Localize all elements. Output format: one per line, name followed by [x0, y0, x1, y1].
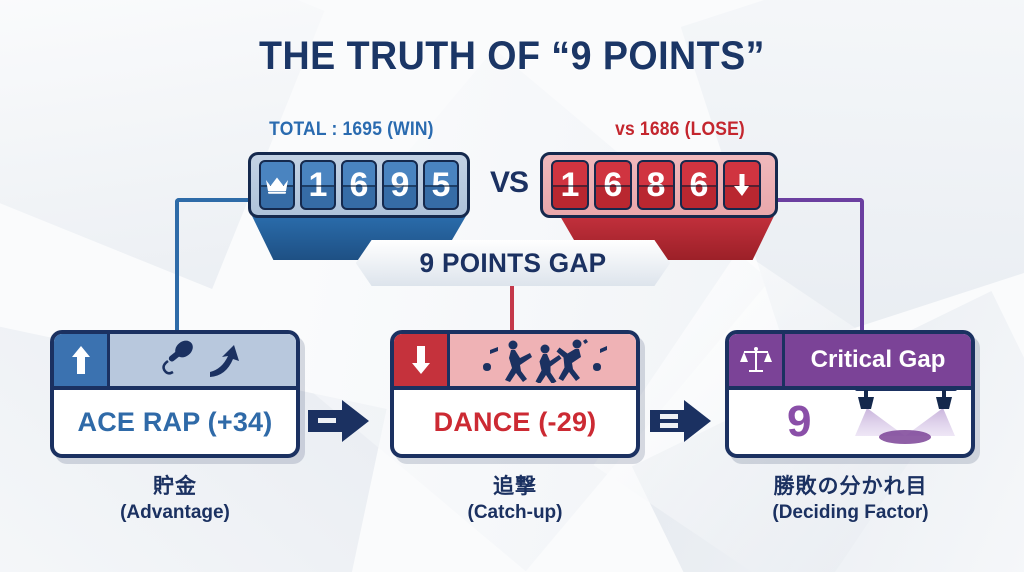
- vs-label: VS: [484, 166, 534, 200]
- score-digit: 6: [594, 160, 632, 210]
- connector-line-right: [764, 198, 864, 340]
- score-digit: 1: [300, 160, 336, 210]
- score-digit: 6: [680, 160, 718, 210]
- right-arrow-icon: [308, 398, 370, 444]
- winner-total-label: TOTAL : 1695 (WIN): [269, 119, 434, 141]
- score-digit: 8: [637, 160, 675, 210]
- caption-jp: 貯金: [50, 470, 300, 500]
- card-head-label: Critical Gap: [785, 334, 971, 386]
- gap-number: 9: [787, 397, 812, 447]
- dancers-music-notes-icon: [450, 334, 636, 386]
- card-header: Critical Gap: [729, 334, 971, 390]
- card-label: DANCE (-29): [394, 390, 636, 454]
- card-ace-rap[interactable]: ACE RAP (+34): [50, 330, 300, 458]
- score-digit: 9: [382, 160, 418, 210]
- down-arrow-icon: [394, 334, 450, 386]
- caption-en: (Catch-up): [390, 502, 640, 524]
- page-title: THE TRUTH OF “9 POINTS”: [31, 34, 994, 79]
- caption-en: (Advantage): [50, 502, 300, 524]
- down-arrow-icon: [723, 160, 761, 210]
- score-digit: 1: [551, 160, 589, 210]
- caption-jp: 追撃: [390, 470, 640, 500]
- infographic-canvas: THE TRUTH OF “9 POINTS” TOTAL : 1695 (WI…: [0, 0, 1024, 572]
- card-critical-gap[interactable]: Critical Gap 9: [725, 330, 975, 458]
- score-digit: 6: [341, 160, 377, 210]
- scoreboard: 1 6 9 5 VS 1 6 8 6: [248, 152, 778, 218]
- crown-icon: [259, 160, 295, 210]
- caption-catchup: 追撃 (Catch-up): [390, 470, 640, 524]
- card-header: [54, 334, 296, 390]
- microphone-rising-arrow-icon: [110, 334, 296, 386]
- balance-scales-icon: [729, 334, 785, 386]
- loser-total-label: vs 1686 (LOSE): [588, 119, 772, 141]
- caption-deciding-factor: 勝敗の分かれ目 (Deciding Factor): [713, 470, 988, 524]
- card-dance[interactable]: DANCE (-29): [390, 330, 640, 458]
- card-label: ACE RAP (+34): [54, 390, 296, 454]
- up-arrow-icon: [54, 334, 110, 386]
- double-right-arrow-icon: [650, 398, 712, 444]
- gap-banner: 9 POINTS GAP: [356, 240, 670, 286]
- caption-jp: 勝敗の分かれ目: [713, 470, 988, 500]
- caption-en: (Deciding Factor): [713, 502, 988, 524]
- score-digit: 5: [423, 160, 459, 210]
- loser-panel: 1 6 8 6: [540, 152, 778, 218]
- caption-advantage: 貯金 (Advantage): [50, 470, 300, 524]
- card-label: 9: [729, 390, 971, 454]
- spotlights-icon: [847, 386, 965, 450]
- winner-panel: 1 6 9 5: [248, 152, 470, 218]
- card-header: [394, 334, 636, 390]
